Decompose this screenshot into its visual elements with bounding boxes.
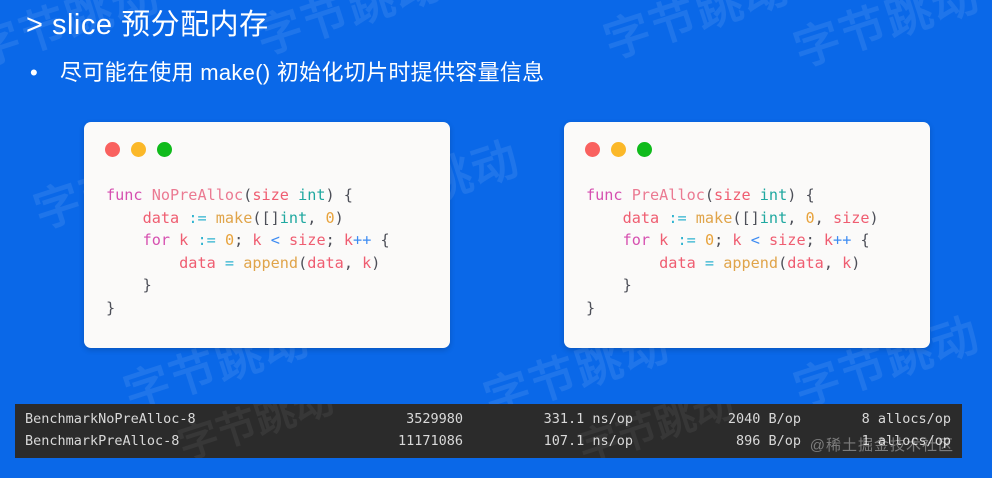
code-token: [179, 209, 188, 227]
code-token: [687, 209, 696, 227]
code-token: k: [362, 254, 371, 272]
code-token: for: [143, 231, 170, 249]
code-token: [216, 231, 225, 249]
code-token: [650, 231, 659, 249]
code-token: 0: [225, 231, 234, 249]
code-token: }: [586, 276, 632, 294]
code-line: func NoPreAlloc(size int) {: [106, 184, 442, 207]
page-title: > slice 预分配内存: [26, 5, 269, 45]
code-token: ) {: [326, 186, 353, 204]
code-token: }: [106, 299, 115, 317]
code-line: for k := 0; k < size; k++ {: [586, 229, 922, 252]
code-token: append: [243, 254, 298, 272]
code-card-no-prealloc: func NoPreAlloc(size int) { data := make…: [84, 122, 450, 348]
code-token: [106, 254, 179, 272]
code-token: [216, 254, 225, 272]
code-token: [262, 231, 271, 249]
code-token: ): [870, 209, 879, 227]
benchmark-row: BenchmarkPreAlloc-811171086107.1 ns/op89…: [15, 430, 962, 452]
code-token: [659, 209, 668, 227]
code-token: data: [623, 209, 660, 227]
code-token: [586, 231, 623, 249]
benchmark-cell-ns-per-op: 107.1 ns/op: [463, 430, 633, 452]
close-dot-icon[interactable]: [105, 142, 120, 157]
code-token: data: [659, 254, 696, 272]
code-token: =: [225, 254, 234, 272]
code-token: func: [106, 186, 143, 204]
code-line: data = append(data, k): [586, 252, 922, 275]
code-token: ,: [824, 254, 842, 272]
benchmark-cell-name: BenchmarkPreAlloc-8: [25, 430, 293, 452]
code-token: <: [751, 231, 760, 249]
code-token: ,: [344, 254, 362, 272]
code-token: k: [824, 231, 833, 249]
code-token: int: [760, 209, 787, 227]
code-token: ): [335, 209, 344, 227]
code-token: ,: [815, 209, 833, 227]
code-line: data := make([]int, 0, size): [586, 207, 922, 230]
code-token: =: [705, 254, 714, 272]
code-token: }: [586, 299, 595, 317]
code-line: }: [106, 274, 442, 297]
code-token: [143, 186, 152, 204]
code-token: :=: [188, 209, 206, 227]
code-block: func PreAlloc(size int) { data := make([…: [586, 184, 922, 319]
code-token: func: [586, 186, 623, 204]
code-line: func PreAlloc(size int) {: [586, 184, 922, 207]
code-token: [742, 231, 751, 249]
code-token: int: [298, 186, 325, 204]
code-token: ++: [353, 231, 371, 249]
code-token: NoPreAlloc: [152, 186, 243, 204]
code-token: size: [833, 209, 870, 227]
code-token: :=: [197, 231, 215, 249]
bullet-item: • 尽可能在使用 make() 初始化切片时提供容量信息: [30, 58, 544, 88]
benchmark-cell-iterations: 11171086: [293, 430, 463, 452]
code-token: k: [179, 231, 188, 249]
code-token: append: [723, 254, 778, 272]
code-token: size: [252, 186, 289, 204]
code-token: PreAlloc: [632, 186, 705, 204]
code-token: ([]: [732, 209, 759, 227]
code-token: [714, 254, 723, 272]
code-token: 0: [806, 209, 815, 227]
minimize-dot-icon[interactable]: [131, 142, 146, 157]
benchmark-cell-allocs-per-op: 1 allocs/op: [801, 430, 951, 452]
code-card-prealloc: func PreAlloc(size int) { data := make([…: [564, 122, 930, 348]
benchmark-cell-bytes-per-op: 2040 B/op: [633, 408, 801, 430]
code-token: ;: [326, 231, 344, 249]
code-token: make: [696, 209, 733, 227]
code-line: data := make([]int, 0): [106, 207, 442, 230]
code-token: [760, 231, 769, 249]
window-traffic-lights: [585, 142, 652, 157]
benchmark-cell-allocs-per-op: 8 allocs/op: [801, 408, 951, 430]
code-token: k: [842, 254, 851, 272]
code-line: }: [586, 274, 922, 297]
code-token: }: [106, 276, 152, 294]
code-token: ): [851, 254, 860, 272]
code-token: [289, 186, 298, 204]
code-token: k: [659, 231, 668, 249]
code-token: k: [732, 231, 741, 249]
maximize-dot-icon[interactable]: [157, 142, 172, 157]
code-block: func NoPreAlloc(size int) { data := make…: [106, 184, 442, 319]
benchmark-rows: BenchmarkNoPreAlloc-83529980331.1 ns/op2…: [15, 404, 962, 458]
code-token: ) {: [787, 186, 814, 204]
code-token: int: [760, 186, 787, 204]
benchmark-cell-name: BenchmarkNoPreAlloc-8: [25, 408, 293, 430]
bullet-marker-icon: •: [30, 58, 60, 88]
code-token: 0: [705, 231, 714, 249]
code-token: ): [371, 254, 380, 272]
code-token: [234, 254, 243, 272]
code-token: ([]: [252, 209, 279, 227]
code-token: <: [271, 231, 280, 249]
code-token: size: [769, 231, 806, 249]
benchmark-cell-bytes-per-op: 896 B/op: [633, 430, 801, 452]
code-line: for k := 0; k < size; k++ {: [106, 229, 442, 252]
code-token: ;: [714, 231, 732, 249]
code-token: k: [252, 231, 261, 249]
background-watermark: 字节跳动: [785, 0, 988, 80]
code-token: [751, 186, 760, 204]
code-token: 0: [326, 209, 335, 227]
code-token: [696, 254, 705, 272]
code-token: (: [243, 186, 252, 204]
benchmark-cell-iterations: 3529980: [293, 408, 463, 430]
code-token: make: [216, 209, 253, 227]
code-token: {: [851, 231, 869, 249]
code-token: data: [787, 254, 824, 272]
code-token: :=: [677, 231, 695, 249]
code-token: [280, 231, 289, 249]
code-token: size: [289, 231, 326, 249]
code-token: ;: [234, 231, 252, 249]
benchmark-output-terminal: 字节跳动 字节跳动 BenchmarkNoPreAlloc-8352998033…: [15, 404, 962, 458]
code-token: [623, 186, 632, 204]
code-token: [586, 209, 623, 227]
code-token: [170, 231, 179, 249]
code-line: }: [586, 297, 922, 320]
benchmark-row: BenchmarkNoPreAlloc-83529980331.1 ns/op2…: [15, 408, 962, 430]
code-token: [207, 209, 216, 227]
code-token: size: [714, 186, 751, 204]
code-token: (: [298, 254, 307, 272]
benchmark-cell-ns-per-op: 331.1 ns/op: [463, 408, 633, 430]
code-token: [586, 254, 659, 272]
code-token: [106, 209, 143, 227]
code-token: {: [371, 231, 389, 249]
code-token: (: [778, 254, 787, 272]
minimize-dot-icon[interactable]: [611, 142, 626, 157]
bullet-text: 尽可能在使用 make() 初始化切片时提供容量信息: [60, 58, 544, 88]
code-line: }: [106, 297, 442, 320]
code-token: int: [280, 209, 307, 227]
code-token: :=: [668, 209, 686, 227]
code-token: ;: [806, 231, 824, 249]
code-token: (: [705, 186, 714, 204]
code-token: data: [307, 254, 344, 272]
code-token: data: [179, 254, 216, 272]
window-traffic-lights: [105, 142, 172, 157]
code-token: ++: [833, 231, 851, 249]
code-token: [696, 231, 705, 249]
background-watermark: 字节跳动: [595, 0, 798, 72]
code-token: [106, 231, 143, 249]
close-dot-icon[interactable]: [585, 142, 600, 157]
code-line: data = append(data, k): [106, 252, 442, 275]
code-token: ,: [307, 209, 325, 227]
code-token: ,: [787, 209, 805, 227]
code-token: for: [623, 231, 650, 249]
maximize-dot-icon[interactable]: [637, 142, 652, 157]
code-token: data: [143, 209, 180, 227]
code-token: k: [344, 231, 353, 249]
